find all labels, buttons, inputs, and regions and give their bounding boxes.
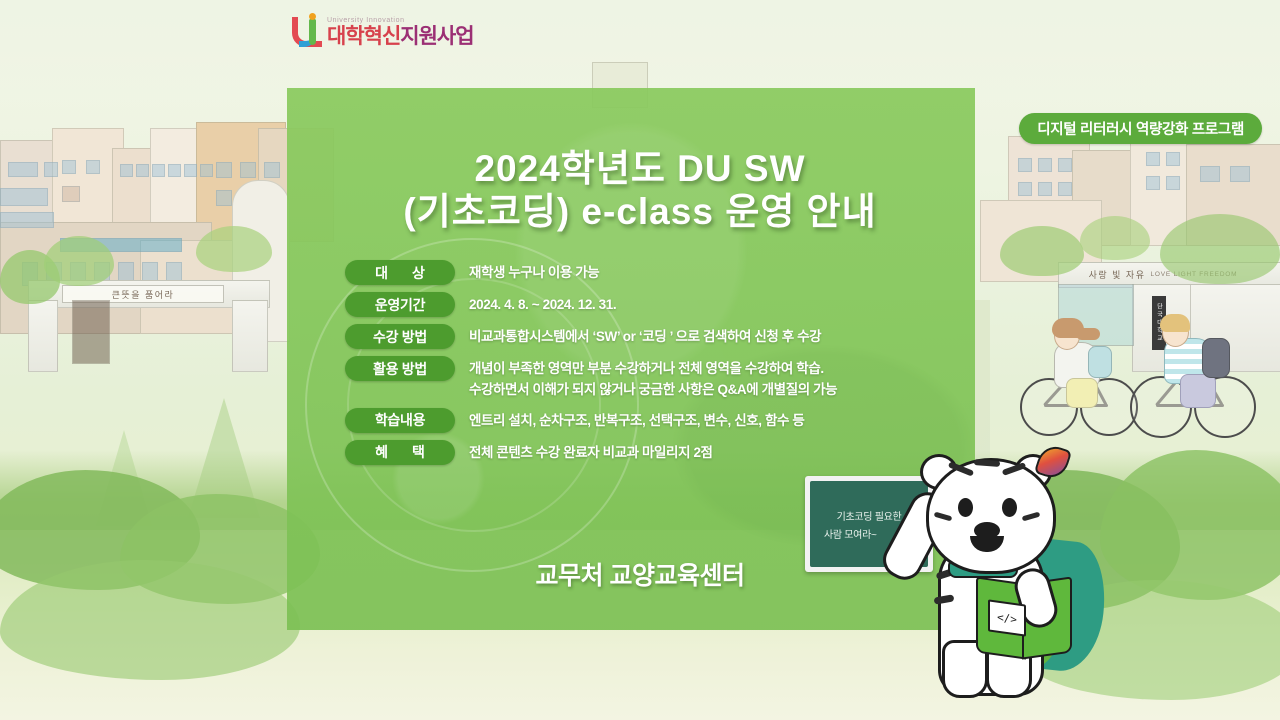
title-line-2: (기초코딩) e-class 운영 안내 [0,191,1280,234]
gate-pillar [232,300,268,372]
info-value-benefit: 전체 콘텐츠 수강 완료자 비교과 마일리지 2점 [469,440,713,464]
cyclist-backpack [1202,338,1230,378]
blackboard-line-2: 사람 모여라~ [824,526,877,541]
ui-monogram-icon [292,14,322,47]
info-value-usage: 개념이 부족한 영역만 부분 수강하거나 전체 영역을 수강하여 학습. 수강하… [469,356,837,401]
info-value-enrollment: 비교과통합시스템에서 ‘SW’ or ‘코딩 ’ 으로 검색하여 신청 후 수강 [469,324,821,348]
title-line-1: 2024학년도 DU SW [0,148,1280,191]
cyclist-ponytail [1076,328,1100,340]
poster-title: 2024학년도 DU SW (기초코딩) e-class 운영 안내 [0,148,1280,234]
cyclist-back [1128,300,1268,445]
info-row: 운영기간 2024. 4. 8. ~ 2024. 12. 31. [345,292,965,317]
info-value-audience: 재학생 누구나 이용 가능 [469,260,599,284]
info-label-audience: 대 상 [345,260,455,285]
gate-sign-left-text: 큰뜻을 품어라 [112,288,175,301]
gate-sign-right-text-kr: 사랑 빛 자유 [1089,268,1146,281]
cyclist-leg [1066,378,1098,408]
program-badge: 디지털 리터러시 역량강화 프로그램 [1019,113,1262,144]
info-label-benefit: 혜 택 [345,440,455,465]
info-row: 대 상 재학생 누구나 이용 가능 [345,260,965,285]
logo-j-green [309,19,316,45]
cyclist-leg [1180,374,1216,408]
white-tiger-mascot: </> [890,440,1150,720]
mascot-eye-right [1002,498,1017,517]
info-label-enrollment: 수강 방법 [345,324,455,349]
info-label-usage: 활용 방법 [345,356,455,381]
info-value-curriculum: 엔트리 설치, 순차구조, 반복구조, 선택구조, 변수, 신호, 함수 등 [469,408,804,432]
logo-korean-text: 대학혁신지원사업 [327,26,474,47]
poster-canvas: 큰뜻을 품어라 사랑 빛 자유 LOVE LIGHT FREEDOM 단국대학교 [0,0,1280,720]
cyclist-backpack [1088,346,1112,378]
info-row: 수강 방법 비교과통합시스템에서 ‘SW’ or ‘코딩 ’ 으로 검색하여 신… [345,324,965,349]
info-value-period: 2024. 4. 8. ~ 2024. 12. 31. [469,292,616,316]
info-row: 활용 방법 개념이 부족한 영역만 부분 수강하거나 전체 영역을 수강하여 학… [345,356,965,401]
gate-booth [72,300,110,364]
info-row: 학습내용 엔트리 설치, 순차구조, 반복구조, 선택구조, 변수, 신호, 함… [345,408,965,433]
cyclist-hair [1160,314,1190,332]
info-label-period: 운영기간 [345,292,455,317]
logo-english-text: University Innovation [327,17,474,24]
logo-dot-orange [309,13,316,20]
tree [44,236,114,286]
info-label-curriculum: 학습내용 [345,408,455,433]
code-monitor-icon: </> [988,599,1026,636]
info-row: 혜 택 전체 콘텐츠 수강 완료자 비교과 마일리지 2점 [345,440,965,465]
university-innovation-logo: University Innovation 대학혁신지원사업 [292,14,474,47]
logo-text-block: University Innovation 대학혁신지원사업 [327,17,474,47]
info-table: 대 상 재학생 누구나 이용 가능 운영기간 2024. 4. 8. ~ 202… [345,260,965,472]
gate-pillar [28,300,58,372]
mascot-eye-left [958,498,973,517]
